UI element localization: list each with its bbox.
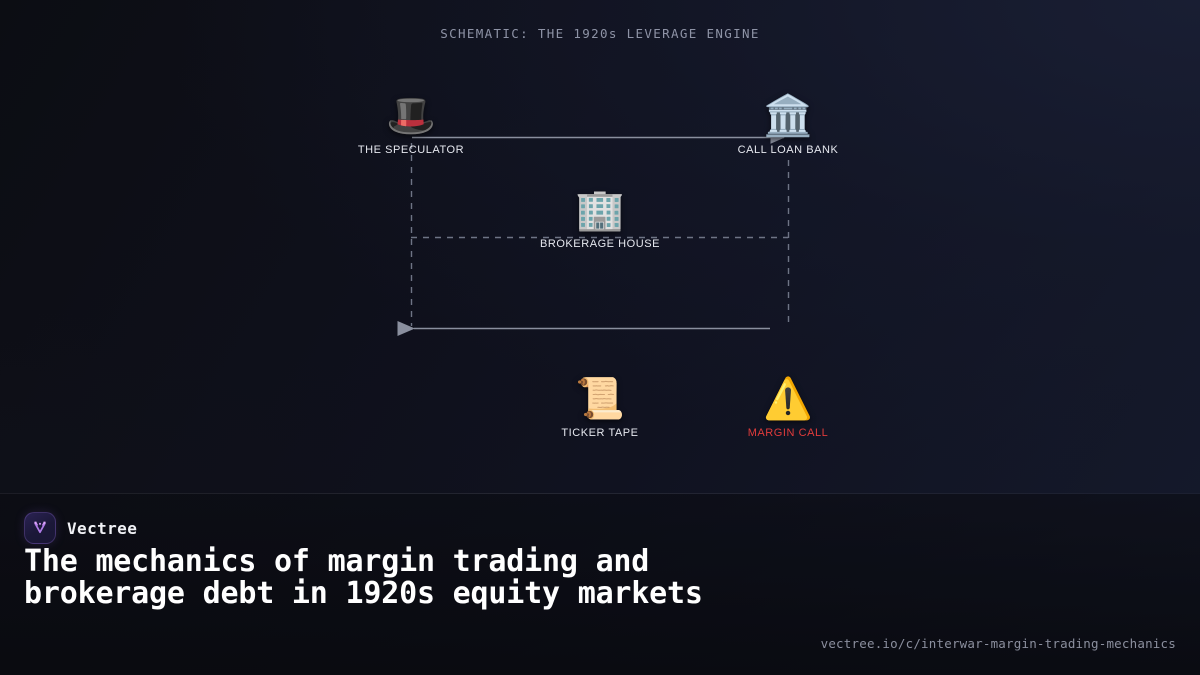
- schematic-diagram: SCHEMATIC: THE 1920s LEVERAGE ENGINE: [0, 0, 1200, 493]
- top-hat-icon: 🎩: [321, 92, 501, 140]
- node-label-call-loan-bank: CALL LOAN BANK: [738, 144, 839, 156]
- source-url: vectree.io/c/interwar-margin-trading-mec…: [821, 636, 1176, 651]
- node-label-speculator: THE SPECULATOR: [358, 144, 464, 156]
- footer: Vectree The mechanics of margin trading …: [0, 494, 1200, 675]
- node-label-ticker-tape: TICKER TAPE: [561, 427, 638, 439]
- vectree-logo-icon: [24, 512, 56, 544]
- node-ticker-tape[interactable]: 📜 TICKER TAPE: [510, 375, 690, 441]
- bank-icon: 🏛️: [698, 92, 878, 140]
- node-speculator[interactable]: 🎩 THE SPECULATOR: [321, 92, 501, 158]
- scroll-icon: 📜: [510, 375, 690, 423]
- node-label-margin-call: MARGIN CALL: [748, 427, 829, 439]
- node-label-brokerage-house: BROKERAGE HOUSE: [540, 238, 660, 250]
- poster-canvas: SCHEMATIC: THE 1920s LEVERAGE ENGINE: [0, 0, 1200, 675]
- office-building-icon: 🏢: [510, 186, 690, 234]
- headline: The mechanics of margin trading and brok…: [24, 546, 824, 610]
- brand[interactable]: Vectree: [24, 512, 137, 544]
- node-call-loan-bank[interactable]: 🏛️ CALL LOAN BANK: [698, 92, 878, 158]
- node-margin-call[interactable]: ⚠️ MARGIN CALL: [698, 375, 878, 441]
- node-brokerage-house[interactable]: 🏢 BROKERAGE HOUSE: [510, 186, 690, 252]
- brand-name: Vectree: [67, 519, 137, 538]
- warning-icon: ⚠️: [698, 375, 878, 423]
